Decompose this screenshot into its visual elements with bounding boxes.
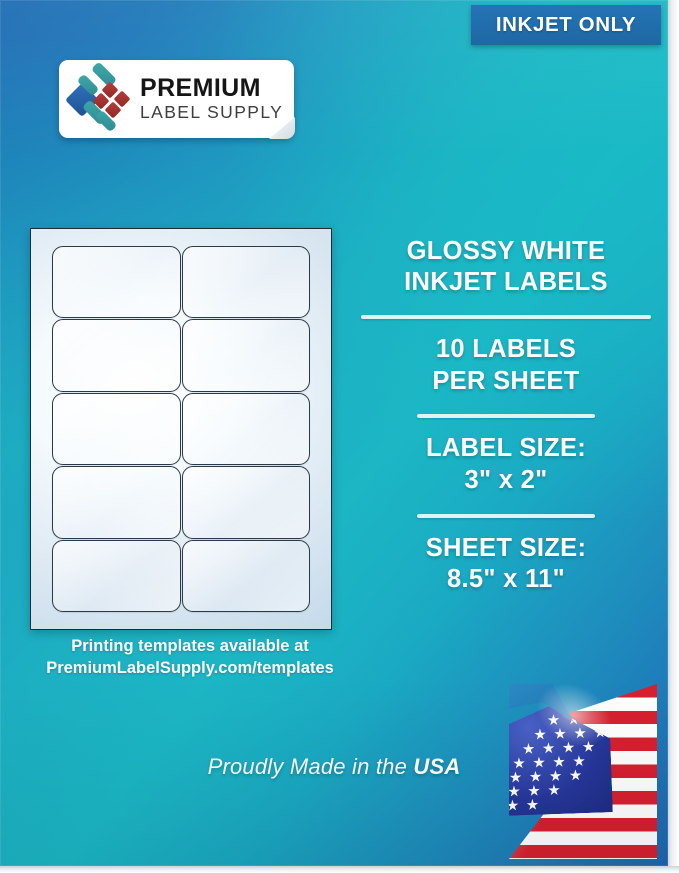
made-in-usa-country: USA bbox=[413, 754, 460, 779]
us-flag-star-icon bbox=[534, 728, 546, 740]
us-flag-star-icon bbox=[522, 743, 534, 755]
page-edge-right bbox=[668, 0, 679, 873]
us-flag-star-icon bbox=[573, 755, 585, 767]
us-flag-star-icon bbox=[554, 728, 566, 740]
inkjet-only-badge-label: INKJET ONLY bbox=[496, 13, 636, 37]
label-cell bbox=[182, 246, 311, 318]
us-flag-star-icon bbox=[548, 784, 560, 796]
label-cell bbox=[182, 540, 311, 612]
us-flag-star-icon bbox=[569, 769, 581, 781]
diamond-grid-logo-mark-icon bbox=[68, 66, 136, 132]
us-flag-star-icon bbox=[513, 757, 525, 769]
us-flag-star-icon bbox=[526, 799, 538, 811]
label-sheet-illustration bbox=[30, 228, 332, 630]
label-cell bbox=[52, 393, 181, 465]
us-flag-star-icon bbox=[533, 756, 545, 768]
spec-sheet-size-line2: 8.5" x 11" bbox=[356, 564, 656, 596]
us-flag-star-icon bbox=[549, 770, 561, 782]
spec-label-size: LABEL SIZE: 3" x 2" bbox=[356, 433, 656, 496]
label-grid bbox=[52, 246, 310, 612]
spec-label-size-line1: LABEL SIZE: bbox=[356, 433, 656, 465]
brand-logo-line1: PREMIUM bbox=[140, 76, 283, 101]
brand-logo-wordmark: PREMIUM LABEL SUPPLY bbox=[140, 76, 283, 122]
product-headline-line1: GLOSSY WHITE bbox=[356, 236, 656, 267]
us-flag-star-icon bbox=[547, 714, 559, 726]
spec-column: GLOSSY WHITE INKJET LABELS 10 LABELS PER… bbox=[356, 236, 656, 596]
us-flag-star-icon bbox=[542, 742, 554, 754]
peeled-corner-flag bbox=[509, 684, 657, 859]
divider-3 bbox=[417, 514, 595, 518]
spec-count: 10 LABELS PER SHEET bbox=[356, 334, 656, 397]
inkjet-only-badge: INKJET ONLY bbox=[471, 5, 661, 45]
us-flag-star-icon bbox=[529, 771, 541, 783]
us-flag-star-icon bbox=[553, 756, 565, 768]
divider-1 bbox=[361, 315, 651, 319]
brand-logo: PREMIUM LABEL SUPPLY bbox=[59, 60, 294, 138]
divider-2 bbox=[417, 414, 595, 418]
label-cell bbox=[52, 246, 181, 318]
template-note-line1: Printing templates available at bbox=[14, 636, 366, 658]
spec-label-size-line2: 3" x 2" bbox=[356, 465, 656, 497]
label-cell bbox=[52, 540, 181, 612]
us-flag-star-icon bbox=[574, 727, 586, 739]
made-in-usa-prefix: Proudly Made in the bbox=[208, 754, 414, 779]
us-flag-star-icon bbox=[582, 741, 594, 753]
us-flag-star-icon bbox=[528, 785, 540, 797]
label-cell bbox=[52, 466, 181, 538]
label-cell bbox=[52, 319, 181, 391]
us-flag-star-icon bbox=[509, 771, 521, 783]
package-artwork: INKJET ONLY PREMIUM LABEL SUPP bbox=[0, 0, 668, 866]
us-flag-star-icon bbox=[509, 785, 520, 797]
label-cell bbox=[182, 319, 311, 391]
product-headline: GLOSSY WHITE INKJET LABELS bbox=[356, 236, 656, 298]
template-note-url: PremiumLabelSupply.com/templates bbox=[14, 658, 366, 680]
spec-count-line2: PER SHEET bbox=[356, 366, 656, 398]
template-note: Printing templates available at PremiumL… bbox=[14, 636, 366, 680]
label-cell bbox=[182, 466, 311, 538]
label-cell bbox=[182, 393, 311, 465]
product-headline-line2: INKJET LABELS bbox=[356, 267, 656, 298]
spec-sheet-size-line1: SHEET SIZE: bbox=[356, 533, 656, 565]
product-image: INKJET ONLY PREMIUM LABEL SUPP bbox=[0, 0, 679, 873]
spec-count-line1: 10 LABELS bbox=[356, 334, 656, 366]
spec-sheet-size: SHEET SIZE: 8.5" x 11" bbox=[356, 533, 656, 596]
us-flag-star-icon bbox=[562, 741, 574, 753]
page-edge-bottom bbox=[0, 866, 679, 873]
us-flag-star-icon bbox=[509, 799, 519, 811]
brand-logo-line2: LABEL SUPPLY bbox=[140, 104, 283, 122]
